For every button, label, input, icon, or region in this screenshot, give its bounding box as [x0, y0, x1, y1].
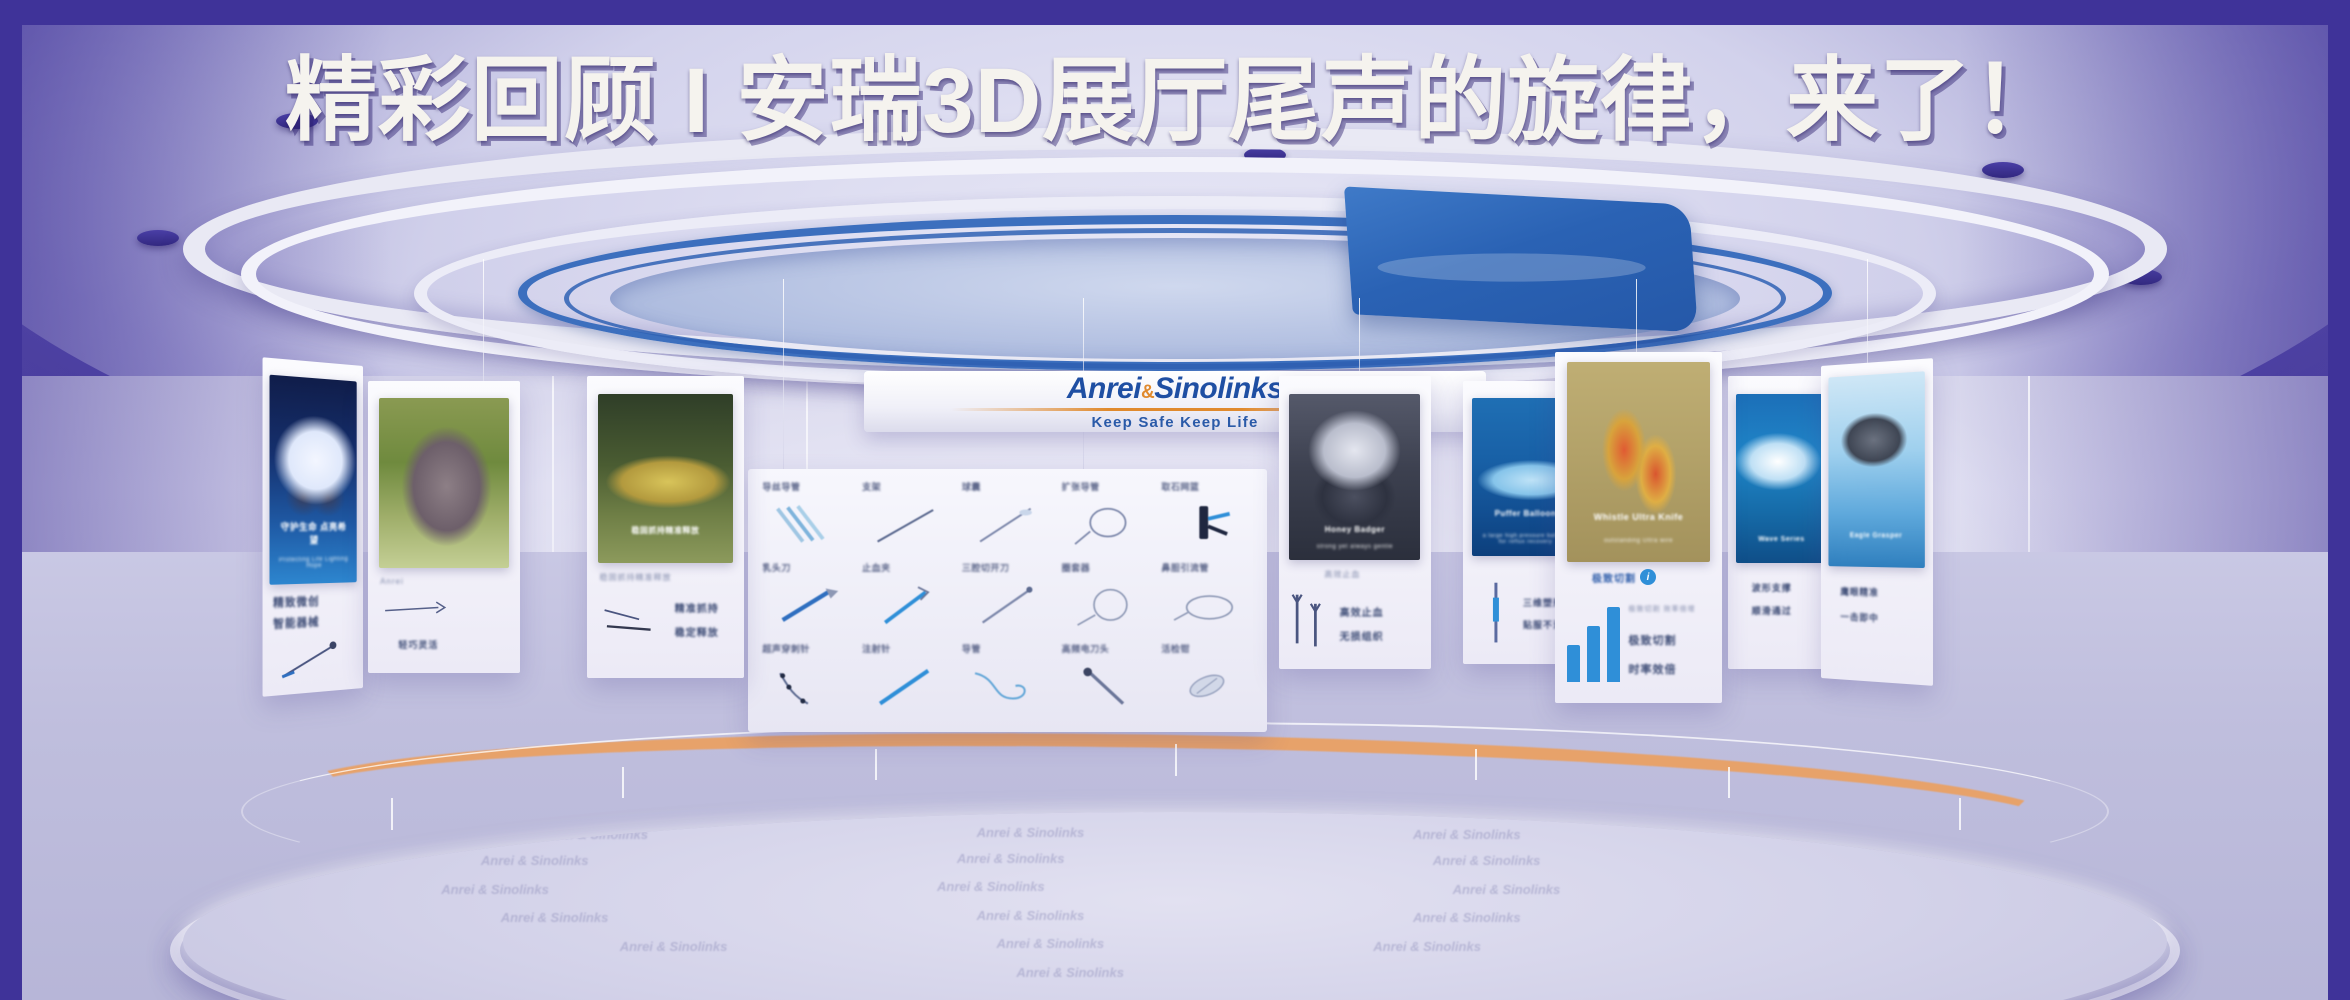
product-illustration: [970, 581, 1046, 631]
poster-subtitle: strong yet always gentle: [1300, 544, 1410, 550]
railing-post: [622, 767, 624, 798]
ceiling-blue-accent-panel: [1344, 186, 1698, 332]
poster-panel-lizard[interactable]: 稳固抓持精准释放 稳固抓持精准释放 精准抓持 稳定释放: [587, 376, 744, 678]
product-illustration: [770, 581, 846, 631]
product-illustration: [970, 500, 1046, 550]
poster-subtitle: Protecting Life Lighting Hope: [277, 556, 350, 570]
poster-image-kangaroo: [379, 398, 510, 568]
product-label: 扩张导管: [1062, 480, 1100, 493]
platform-watermark: Anrei & Sinolinks: [620, 939, 728, 954]
poster-headline: 守护生命 点亮希望: [277, 520, 350, 547]
product-illustration: [970, 662, 1046, 712]
product-illustration: [870, 500, 946, 550]
instrument-illustration: [1288, 581, 1328, 657]
product-label: 导管: [962, 642, 981, 655]
brand-name-first: Anrei: [1067, 372, 1141, 405]
product-label: 鼻胆引流管: [1161, 561, 1209, 574]
product-cell[interactable]: 乳头刀: [758, 560, 858, 641]
instrument-illustration: [277, 631, 347, 689]
performance-bar-chart: [1567, 604, 1620, 681]
brand-name-second: Sinolinks: [1154, 372, 1283, 405]
product-illustration: [1070, 500, 1146, 550]
product-cell[interactable]: 扩张导管: [1058, 479, 1158, 560]
panel-brand-mark: Anrei: [380, 577, 404, 586]
panel-brand-cn: 极致切割: [1592, 570, 1636, 585]
product-label: 导丝导管: [762, 480, 800, 493]
platform-watermark: Anrei & Sinolinks: [1373, 939, 1481, 954]
platform-watermark: Anrei & Sinolinks: [441, 882, 549, 897]
panel-caption-line1: 轻巧灵活: [398, 638, 438, 651]
product-display-wall[interactable]: 导丝导管支架球囊扩张导管取石网篮乳头刀止血夹三腔切开刀圈套器鼻胆引流管超声穿刺针…: [748, 469, 1267, 732]
info-icon: i: [1640, 569, 1656, 585]
frame-left: [0, 0, 22, 1000]
platform-watermark: Anrei & Sinolinks: [1016, 965, 1124, 980]
product-cell[interactable]: 鼻胆引流管: [1157, 560, 1257, 641]
platform-watermark: Anrei & Sinolinks: [501, 910, 609, 925]
ceiling-light: [137, 230, 179, 246]
chart-bar: [1607, 607, 1620, 682]
product-label: 球囊: [962, 480, 981, 493]
panel-caption-line1: 高效止血: [1340, 604, 1384, 619]
product-illustration: [770, 662, 846, 712]
product-cell[interactable]: 支架: [858, 479, 958, 560]
product-cell[interactable]: 三腔切开刀: [958, 560, 1058, 641]
poster-headline: Eagle Grasper: [1836, 533, 1917, 541]
panel-caption-line1: 波形支撑: [1752, 581, 1792, 594]
product-cell[interactable]: 导管: [958, 641, 1058, 722]
exhibition-banner-image: Anrei & Sinolinks Anrei & Sinolinks Anre…: [0, 0, 2350, 1000]
product-label: 三腔切开刀: [962, 561, 1010, 574]
product-label: 乳头刀: [762, 561, 791, 574]
product-cell[interactable]: 超声穿刺针: [758, 641, 858, 722]
poster-image-panda: 守护生命 点亮希望 Protecting Life Lighting Hope: [270, 375, 356, 585]
poster-panel-panda[interactable]: 守护生命 点亮希望 Protecting Life Lighting Hope …: [263, 357, 364, 696]
instrument-illustration: [1481, 573, 1511, 652]
chart-bar: [1587, 626, 1600, 682]
poster-headline: 稳固抓持精准释放: [609, 525, 722, 536]
poster-subcaption: 稳固抓持精准释放: [600, 572, 672, 583]
railing-post: [391, 798, 393, 829]
poster-image-eagle: Eagle Grasper: [1828, 372, 1925, 568]
railing-post: [875, 749, 877, 780]
railing-post: [1175, 744, 1177, 775]
panel-caption-line2: 时率效倍: [1629, 661, 1677, 677]
product-illustration: [870, 662, 946, 712]
product-label: 圈套器: [1062, 561, 1091, 574]
poster-panel-badger[interactable]: Honey Badger strong yet always gentle 高效…: [1279, 376, 1431, 669]
panel-caption-line1: 极致切割: [1629, 632, 1677, 648]
poster-image-bird: Whistle Ultra Knife outstanding Ultra wi…: [1567, 362, 1710, 562]
product-cell[interactable]: 导丝导管: [758, 479, 858, 560]
brand-ampersand: &: [1141, 382, 1154, 403]
product-label: 活检钳: [1161, 642, 1190, 655]
panel-caption-line2: 一击即中: [1840, 610, 1878, 625]
frame-top: [0, 0, 2350, 25]
product-cell[interactable]: 球囊: [958, 479, 1058, 560]
ceiling-light: [1982, 162, 2024, 178]
poster-panel-bird[interactable]: Whistle Ultra Knife outstanding Ultra wi…: [1555, 352, 1721, 703]
poster-panel-wave[interactable]: Wave Series 波形支撑 顺滑通过: [1728, 376, 1834, 669]
platform-watermark: Anrei & Sinolinks: [997, 936, 1105, 951]
railing-post: [1475, 749, 1477, 780]
poster-headline: Wave Series: [1743, 536, 1820, 543]
railing-post: [1728, 767, 1730, 798]
product-cell[interactable]: 活检钳: [1157, 641, 1257, 722]
panel-subcaption: 高效止血: [1324, 569, 1360, 580]
poster-panel-kangaroo[interactable]: Anrei 轻巧灵活: [368, 381, 520, 674]
brand-tagline: Keep Safe Keep Life: [1091, 414, 1258, 431]
poster-headline: Whistle Ultra Knife: [1579, 512, 1699, 522]
product-cell[interactable]: 高频电刀头: [1058, 641, 1158, 722]
product-label: 止血夹: [862, 561, 891, 574]
page-title: 精彩回顾 I 安瑞3D展厅尾声的旋律，来了！: [0, 26, 2350, 159]
chart-bar: [1567, 645, 1580, 682]
brand-logo: Anrei&Sinolinks: [1067, 372, 1283, 406]
chart-caption: 极致切割 效率倍增: [1629, 604, 1696, 614]
product-cell[interactable]: 止血夹: [858, 560, 958, 641]
platform-watermark: Anrei & Sinolinks: [977, 908, 1085, 923]
poster-image-badger: Honey Badger strong yet always gentle: [1289, 394, 1420, 561]
railing-post: [1959, 798, 1961, 829]
product-label: 取石网篮: [1161, 480, 1199, 493]
product-label: 支架: [862, 480, 881, 493]
poster-headline: Honey Badger: [1300, 525, 1410, 534]
panel-caption-line2: 顺滑通过: [1752, 604, 1792, 617]
panel-brand-row: 极致切割 i: [1592, 569, 1656, 585]
product-grid: 导丝导管支架球囊扩张导管取石网篮乳头刀止血夹三腔切开刀圈套器鼻胆引流管超声穿刺针…: [758, 479, 1257, 722]
panel-caption-line2: 稳定释放: [675, 624, 719, 639]
frame-right: [2328, 0, 2350, 1000]
poster-subtitle: outstanding Ultra wire: [1579, 538, 1699, 544]
product-illustration: [770, 500, 846, 550]
product-illustration: [1070, 662, 1146, 712]
platform-watermark: Anrei & Sinolinks: [1413, 910, 1521, 925]
poster-image-wave: Wave Series: [1736, 394, 1827, 564]
panel-caption-line2: 无损组织: [1340, 628, 1384, 643]
product-label: 高频电刀头: [1062, 642, 1110, 655]
product-label: 超声穿刺针: [762, 642, 810, 655]
instrument-illustration: [600, 594, 669, 642]
poster-image-lizard: 稳固抓持精准释放: [598, 394, 733, 563]
product-illustration: [1169, 662, 1245, 712]
panel-caption-line1: 精致微创: [273, 593, 319, 611]
panel-caption-line1: 精准抓持: [675, 600, 719, 615]
product-illustration: [1169, 500, 1245, 550]
product-illustration: [1070, 581, 1146, 631]
product-cell[interactable]: 注射针: [858, 641, 958, 722]
instrument-illustration: [383, 591, 447, 626]
virtual-exhibition-room: Anrei & Sinolinks Anrei & Sinolinks Anre…: [22, 25, 2328, 1000]
product-illustration: [870, 581, 946, 631]
panel-caption-line1: 鹰眼精准: [1840, 585, 1878, 599]
product-cell[interactable]: 圈套器: [1058, 560, 1158, 641]
panel-caption-line2: 智能器械: [273, 613, 319, 632]
poster-panel-eagle[interactable]: Eagle Grasper 鹰眼精准 一击即中: [1821, 358, 1933, 686]
product-cell[interactable]: 取石网篮: [1157, 479, 1257, 560]
product-label: 注射针: [862, 642, 891, 655]
product-illustration: [1169, 581, 1245, 631]
